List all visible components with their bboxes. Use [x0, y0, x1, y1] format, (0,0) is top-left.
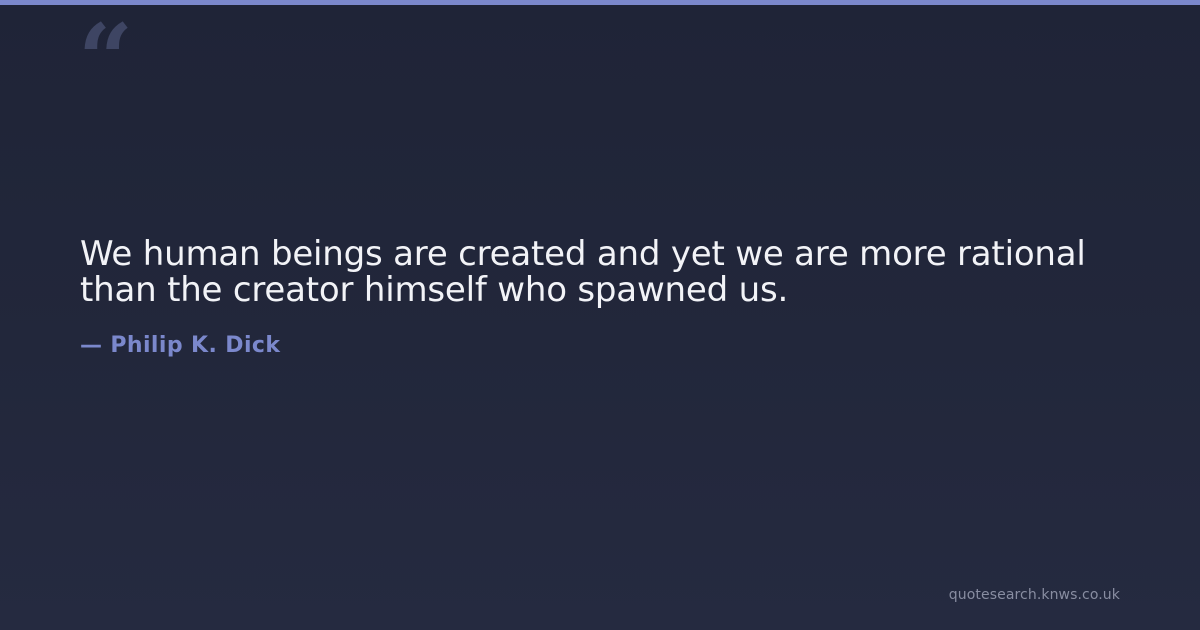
author-name: Philip K. Dick: [110, 333, 280, 358]
site-watermark: quotesearch.knws.co.uk: [949, 586, 1120, 604]
quotation-mark-icon: “: [78, 12, 131, 108]
quote-content-block: We human beings are created and yet we a…: [80, 236, 1130, 359]
em-dash-separator: —: [80, 333, 110, 359]
quote-text: We human beings are created and yet we a…: [80, 236, 1125, 308]
top-accent-bar: [0, 0, 1200, 5]
quote-card: “ We human beings are created and yet we…: [0, 0, 1200, 630]
quote-attribution: —Philip K. Dick: [80, 308, 1130, 359]
